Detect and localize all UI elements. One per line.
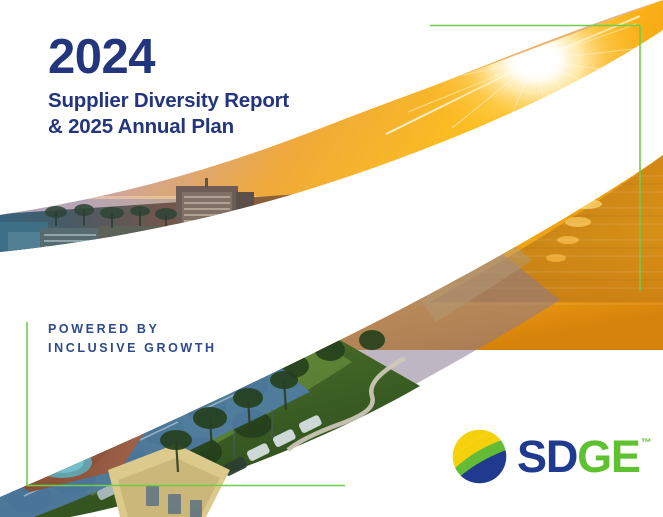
report-cover: 2024 Supplier Diversity Report & 2025 An… bbox=[0, 0, 663, 517]
report-subtitle: Supplier Diversity Report & 2025 Annual … bbox=[48, 88, 289, 140]
tagline: POWERED BY INCLUSIVE GROWTH bbox=[48, 320, 217, 359]
sdge-word-sd: SD bbox=[517, 434, 577, 479]
sdge-globe-icon bbox=[451, 428, 508, 485]
report-year: 2024 bbox=[48, 33, 289, 82]
title-block: 2024 Supplier Diversity Report & 2025 An… bbox=[48, 33, 289, 140]
sdge-word-ge: GE bbox=[577, 434, 640, 479]
street-aerial-band bbox=[0, 360, 330, 517]
sdge-logo[interactable]: SD GE ™ bbox=[451, 428, 652, 485]
trademark-symbol: ™ bbox=[641, 438, 652, 449]
sdge-wordmark: SD GE ™ bbox=[517, 434, 652, 479]
